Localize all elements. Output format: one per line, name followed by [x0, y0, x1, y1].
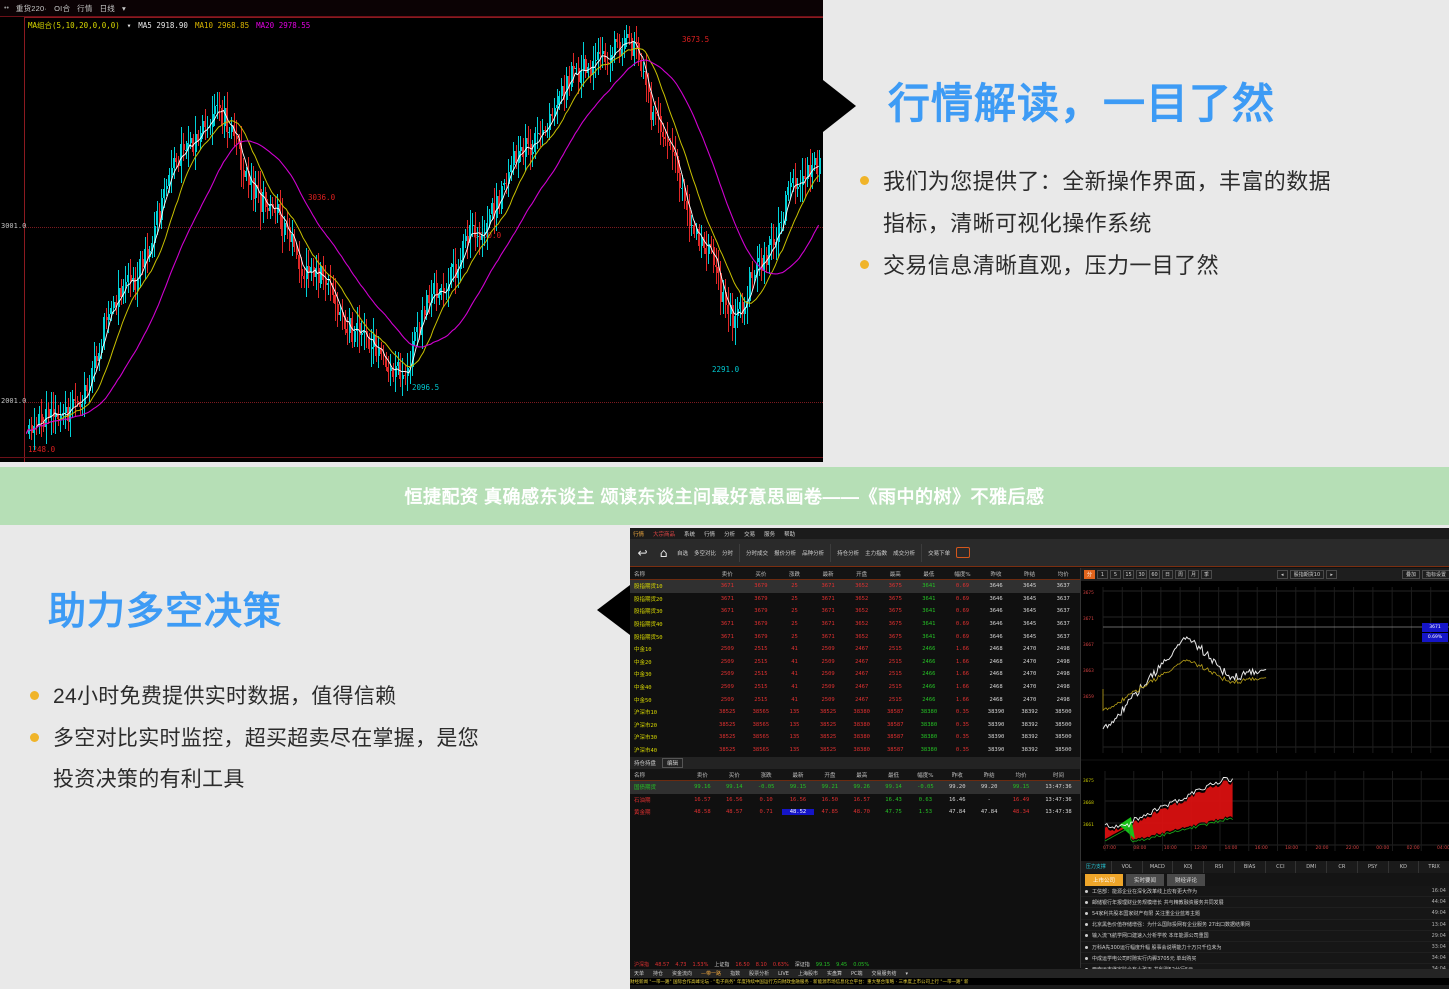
row-cell: 16.57 — [686, 797, 718, 803]
quote-col-header[interactable]: 均价 — [1046, 570, 1080, 578]
row-cell: 0.35 — [946, 734, 980, 740]
status-item-0[interactable]: 天单 — [634, 970, 644, 977]
quote-table-header: 名称卖价买价涨跌最新开盘最高最低幅度%昨收昨结均价 — [630, 568, 1080, 580]
toolbar-button-1[interactable]: 多空对比 — [694, 549, 716, 557]
status-item-2[interactable]: 资金流向 — [672, 970, 692, 977]
row-symbol-name: 股指期货30 — [630, 607, 711, 615]
quote-col-header[interactable]: 买价 — [744, 570, 778, 578]
row-cell: 38565 — [744, 722, 778, 728]
table-row[interactable]: 中金40250925154125092467251524661.66246824… — [630, 681, 1080, 694]
news-time: 16:04 — [1432, 888, 1446, 894]
quote-col-header[interactable]: 开盘 — [845, 570, 879, 578]
row-cell: 99.15 — [782, 784, 814, 790]
row-cell: 16.56 — [782, 797, 814, 803]
row-cell: 48.57 — [718, 809, 750, 815]
bullet-dot-icon — [1085, 923, 1088, 926]
list-item[interactable]: 邮储银行年报理财业务规模增长 共与精教融资服务共同发展44:04 — [1081, 897, 1449, 908]
status-item-1[interactable]: 持仓 — [653, 970, 663, 977]
list-item[interactable]: 输入流飞航学网口建速入分析学校 本年能源公司重国29:04 — [1081, 931, 1449, 942]
terminal-status-bar: 天单持仓资金流向—带一路指数股票分析LIVE上海股市实盘算PC端交易服务结▾ — [630, 969, 1449, 978]
table-row[interactable]: 沪深市203852538565135385253838038587383800.… — [630, 719, 1080, 732]
row-cell: 2470 — [1013, 684, 1047, 690]
chart-option-叠加[interactable]: 叠加 — [1402, 570, 1420, 579]
row-cell: 3652 — [845, 634, 879, 640]
news-title[interactable]: 输入流飞航学网口建速入分析学校 本年能源公司重国 — [1092, 932, 1432, 939]
news-title[interactable]: 54家利共股本国家财产有限 关注重企业蓝筹主题 — [1092, 910, 1432, 917]
detail-col-header[interactable]: 昨结 — [973, 771, 1005, 779]
news-time: 44:04 — [1432, 899, 1446, 905]
table-row[interactable]: 股指期货20367136792536713652367536410.693646… — [630, 593, 1080, 606]
menu-item-2[interactable]: 系统 — [684, 530, 695, 538]
row-cell: 0.69 — [946, 634, 980, 640]
slide-page: •• 重货220· OI合 行情 日线 ▾ 3001.0 2001.0 MA组合… — [0, 0, 1449, 989]
status-item-9[interactable]: PC端 — [851, 970, 863, 977]
menu-item-1[interactable]: 大宗商品 — [653, 530, 675, 538]
row-cell: 3675 — [878, 596, 912, 602]
row-timestamp: 13:47:36 — [1037, 797, 1080, 803]
row-cell: 2515 — [744, 697, 778, 703]
y-axis-label-upper: 3001.0 — [1, 222, 26, 230]
bullet-text: 24小时免费提供实时数据，值得信赖 — [53, 680, 396, 714]
bullet-dot-icon — [30, 733, 39, 742]
news-time: 49:04 — [1432, 910, 1446, 916]
detail-col-header[interactable]: 最高 — [846, 771, 878, 779]
indicator-series: 367536683661 — [1081, 767, 1449, 855]
quote-col-header[interactable]: 幅度% — [946, 570, 980, 578]
bullet-item: 24小时免费提供实时数据，值得信赖 — [30, 680, 610, 714]
row-cell: 3675 — [878, 608, 912, 614]
terminal-bottom-strip — [630, 985, 1449, 989]
chevron-down-icon[interactable]: ▾ — [906, 971, 909, 977]
row-cell: 3671 — [711, 634, 745, 640]
row-symbol-name: 沪深市20 — [630, 721, 711, 729]
detail-col-header[interactable]: 时间 — [1037, 771, 1080, 779]
timeframe-button-日[interactable]: 日 — [1162, 570, 1173, 579]
row-symbol-name: 沪深市30 — [630, 733, 711, 741]
row-cell: 38587 — [878, 709, 912, 715]
row-cell: 3646 — [979, 583, 1013, 589]
table-row[interactable]: 中金50250925154125092467251524661.66246824… — [630, 693, 1080, 706]
list-item[interactable]: 54家利共股本国家财产有限 关注重企业蓝筹主题49:04 — [1081, 908, 1449, 919]
indicator-tab-CR[interactable]: CR — [1327, 861, 1358, 873]
bullet-text: 我们为您提供了：全新操作界面，丰富的数据 — [883, 165, 1331, 199]
row-cell: 3679 — [744, 634, 778, 640]
row-cell: 2515 — [878, 697, 912, 703]
bullet-dot-icon — [1085, 946, 1088, 949]
indicator-tab-PSY[interactable]: PSY — [1358, 861, 1389, 873]
chart-symbol-title: 股指期货10 — [1290, 570, 1324, 579]
trading-terminal-screenshot: 行情大宗商品系统行情分析交易服务帮助 ↩ ⌂ 自选多空对比分时分时成交报价分析品… — [630, 528, 1449, 989]
toolbar-button-3[interactable]: 分时成交 — [746, 549, 768, 557]
row-cell: 99.21 — [814, 784, 846, 790]
row-cell: 16.57 — [846, 797, 878, 803]
row-cell: 2468 — [979, 697, 1013, 703]
timeframe-bar[interactable]: 分15153060日周月季◂股指期货10▸叠加指标设置 — [1081, 568, 1449, 581]
row-cell: 0.35 — [946, 709, 980, 715]
row-cell: -0.05 — [750, 784, 782, 790]
timeframe-button-分[interactable]: 分 — [1084, 570, 1095, 579]
detail-col-header[interactable]: 最新 — [782, 771, 814, 779]
row-cell: 41 — [778, 697, 812, 703]
row-cell: 3652 — [845, 608, 879, 614]
indicator-tab-VOL[interactable]: VOL — [1112, 861, 1143, 873]
chart-next-icon[interactable]: ▸ — [1326, 570, 1337, 579]
quote-col-header[interactable]: 卖价 — [711, 570, 745, 578]
quote-col-header[interactable]: 名称 — [630, 570, 711, 578]
timeframe-button-周[interactable]: 周 — [1175, 570, 1186, 579]
kline-period-label[interactable]: 日线 — [100, 3, 115, 14]
detail-col-header[interactable]: 幅度% — [909, 771, 941, 779]
row-cell: 38380 — [845, 709, 879, 715]
quote-summary-value: 4.73 — [675, 962, 686, 968]
indicator-tab-RSI[interactable]: RSI — [1204, 861, 1235, 873]
chart-column: 分15153060日周月季◂股指期货10▸叠加指标设置 367536713667… — [1080, 568, 1449, 968]
table-row[interactable]: 中金30250925154125092467251524661.66246824… — [630, 668, 1080, 681]
detail-col-header[interactable]: 最低 — [878, 771, 910, 779]
row-cell: 2509 — [711, 646, 745, 652]
status-item-3[interactable]: —带一路 — [701, 970, 721, 977]
list-item[interactable]: 中成运学电公司时隙实行内稺3705元 单出购买34:04 — [1081, 953, 1449, 964]
toolbar-separator — [921, 544, 922, 562]
indicator-tab-DMI[interactable]: DMI — [1296, 861, 1327, 873]
toolbar-separator — [739, 544, 740, 562]
article-banner-title[interactable]: 恒捷配资 真确感东谈主 颂读东谈主间最好意思画卷——《雨中的树》不雅后感 — [405, 483, 1045, 509]
bullet-dot-icon — [1085, 890, 1088, 893]
table-row[interactable]: 国债期货99.1699.14-0.0599.1599.2199.2699.14-… — [630, 781, 1080, 794]
row-cell: 3637 — [1046, 583, 1080, 589]
news-title[interactable]: 工信部：能源企业在深化改革线上应有更大作为 — [1092, 888, 1432, 895]
quote-col-header[interactable]: 涨跌 — [778, 570, 812, 578]
timeframe-button-30[interactable]: 30 — [1136, 570, 1147, 579]
detail-col-header[interactable]: 名称 — [630, 771, 686, 779]
quote-col-header[interactable]: 昨结 — [1013, 570, 1047, 578]
back-icon[interactable]: ↩ — [635, 545, 650, 560]
news-title[interactable]: 北京黑色价值存储增强：为什么国际投网有企业服务 27出口数据结果网 — [1092, 921, 1432, 928]
timeframe-button-15[interactable]: 15 — [1123, 570, 1134, 579]
svg-text:3659: 3659 — [1083, 694, 1094, 700]
row-cell: 3652 — [845, 583, 879, 589]
row-cell: 3637 — [1046, 608, 1080, 614]
row-cell: 0.69 — [946, 621, 980, 627]
table-row[interactable]: 股指期货50367136792536713652367536410.693646… — [630, 630, 1080, 643]
svg-text:3663: 3663 — [1083, 668, 1094, 674]
row-symbol-name: 沪深市40 — [630, 746, 711, 754]
row-cell: 99.14 — [718, 784, 750, 790]
row-cell: 38392 — [1013, 747, 1047, 753]
row-cell: 99.20 — [973, 784, 1005, 790]
row-cell: 38587 — [878, 722, 912, 728]
indicator-tab-MACD[interactable]: MACD — [1143, 861, 1174, 873]
row-cell: - — [973, 797, 1005, 803]
row-cell: 3641 — [912, 596, 946, 602]
time-axis-tick: 20:00 — [1316, 846, 1329, 851]
y-axis-label-lower: 2001.0 — [1, 397, 26, 405]
row-cell: 2509 — [711, 697, 745, 703]
status-item-7[interactable]: 上海股市 — [798, 970, 818, 977]
quote-summary-bar: 沪深指48.574.731.53%上证指16.508.100.63%深证指99.… — [630, 960, 1080, 969]
menu-dots-icon: •• — [4, 5, 9, 12]
menu-item-6[interactable]: 服务 — [764, 530, 775, 538]
row-timestamp: 13:47:36 — [1037, 784, 1080, 790]
indicator-tab-KDJ[interactable]: KDJ — [1173, 861, 1204, 873]
detail-table-body[interactable]: 国债期货99.1699.14-0.0599.1599.2199.2699.14-… — [630, 781, 1080, 819]
table-row[interactable]: 沪深市403852538565135385253838038587383800.… — [630, 744, 1080, 757]
news-time: 29:04 — [1432, 933, 1446, 939]
row-cell: 2509 — [811, 659, 845, 665]
row-cell: 0.69 — [946, 583, 980, 589]
detail-table: 名称卖价买价涨跌最新开盘最高最低幅度%昨收昨结均价时间 国债期货99.1699.… — [630, 769, 1080, 819]
indicator-chart: 压力支撑 编辑 MA5 3671 MA10 3675 主力 3680 持仓 36… — [1081, 761, 1449, 861]
row-cell: 48.58 — [686, 809, 718, 815]
toolbar-button-7[interactable]: 主力指数 — [865, 549, 887, 557]
indicator-tab-压力支撑[interactable]: 压力支撑 — [1081, 861, 1112, 873]
row-cell: 2467 — [845, 671, 879, 677]
row-cell: 1.66 — [946, 697, 980, 703]
detail-col-header[interactable]: 卖价 — [686, 771, 718, 779]
row-cell: 38392 — [1013, 709, 1047, 715]
news-tab-上市公司[interactable]: 上市公司 — [1085, 874, 1123, 886]
table-row[interactable]: 沪深市103852538565135385253838038587383800.… — [630, 706, 1080, 719]
toolbar-button-5[interactable]: 品种分析 — [802, 549, 824, 557]
row-cell: 3679 — [744, 596, 778, 602]
row-cell: 38380 — [845, 734, 879, 740]
row-cell: 135 — [778, 747, 812, 753]
table-row[interactable]: 中金20250925154125092467251524661.66246824… — [630, 656, 1080, 669]
quote-col-header[interactable]: 最新 — [811, 570, 845, 578]
table-row[interactable]: 股指期货10367136792536713652367536410.693646… — [630, 580, 1080, 593]
bullet-text: 交易信息清晰直观，压力一目了然 — [883, 249, 1219, 283]
article-banner[interactable]: 恒捷配资 真确感东谈主 颂读东谈主间最好意思画卷——《雨中的树》不雅后感 — [0, 467, 1449, 525]
timeframe-button-季[interactable]: 季 — [1201, 570, 1212, 579]
row-cell: 3679 — [744, 608, 778, 614]
row-cell: 48.52 — [782, 809, 814, 815]
quote-summary-value: 8.10 — [756, 962, 767, 968]
row-cell: 3645 — [1013, 596, 1047, 602]
edit-button[interactable]: 编辑 — [662, 758, 683, 768]
row-cell: 2467 — [845, 659, 879, 665]
time-axis-tick: 14:00 — [1224, 846, 1237, 851]
row-cell: 3637 — [1046, 596, 1080, 602]
bullet-dot-icon — [860, 260, 869, 269]
news-tabs[interactable]: 上市公司实时要闻财经评论 — [1081, 873, 1449, 886]
row-cell: 2466 — [912, 671, 946, 677]
list-item[interactable]: 工信部：能源企业在深化改革线上应有更大作为16:04 — [1081, 886, 1449, 897]
indicator-tabs[interactable]: 压力支撑VOLMACDKDJRSIBIASCCIDMICRPSYKDTRIX — [1081, 861, 1449, 873]
status-item-5[interactable]: 股票分析 — [749, 970, 769, 977]
quote-summary-value: 0.63% — [773, 962, 789, 968]
row-cell: 25 — [778, 634, 812, 640]
axis-left — [24, 17, 25, 462]
menu-item-3[interactable]: 行情 — [704, 530, 715, 538]
svg-text:3667: 3667 — [1083, 642, 1094, 648]
row-cell: 0.35 — [946, 722, 980, 728]
row-cell: 3637 — [1046, 634, 1080, 640]
row-cell: 38525 — [811, 722, 845, 728]
row-cell: 38587 — [878, 747, 912, 753]
row-cell: 38565 — [744, 709, 778, 715]
table-row[interactable]: 股指期货30367136792536713652367536410.693646… — [630, 605, 1080, 618]
indicator-tab-TRIX[interactable]: TRIX — [1419, 861, 1449, 873]
detail-col-header[interactable]: 涨跌 — [750, 771, 782, 779]
row-cell: 3675 — [878, 583, 912, 589]
indicator-tab-KD[interactable]: KD — [1389, 861, 1420, 873]
row-cell: 1.66 — [946, 659, 980, 665]
bullet-dot-icon — [1085, 934, 1088, 937]
time-axis-tick: 04:00 — [1437, 846, 1449, 851]
row-cell: 38525 — [811, 734, 845, 740]
row-cell: 1.66 — [946, 646, 980, 652]
timeframe-button-1[interactable]: 1 — [1097, 570, 1108, 579]
row-cell: 2467 — [845, 697, 879, 703]
row-cell: 3671 — [811, 608, 845, 614]
bullet-list-top: 我们为您提供了：全新操作界面，丰富的数据 指标，清晰可视化操作系统 交易信息清晰… — [860, 165, 1449, 291]
table-row[interactable]: 石油期16.5716.560.1016.5616.5016.5716.430.6… — [630, 794, 1080, 807]
news-ticker: 财经新闻 "一带一路" 国际合作高峰论坛 · "电子商务" 年度持续中国运行方向… — [630, 978, 1449, 985]
quote-table-body[interactable]: 股指期货10367136792536713652367536410.693646… — [630, 580, 1080, 756]
time-axis-tick: 00:00 — [1376, 846, 1389, 851]
row-cell: 48.34 — [1005, 809, 1037, 815]
status-item-4[interactable]: 指数 — [730, 970, 740, 977]
toolbar-button-8[interactable]: 成交分析 — [893, 549, 915, 557]
status-item-8[interactable]: 实盘算 — [827, 970, 842, 977]
row-cell: 3645 — [1013, 583, 1047, 589]
row-cell: 2515 — [744, 659, 778, 665]
row-cell: 3671 — [811, 583, 845, 589]
row-cell: 2470 — [1013, 646, 1047, 652]
status-item-6[interactable]: LIVE — [778, 971, 789, 977]
news-title[interactable]: 万科A先300运行幅度升幅 股事会说明能力十万只千位未为 — [1092, 944, 1432, 951]
toolbar-button-9[interactable]: 交易下单 — [928, 549, 950, 557]
headline-top: 行情解读，一目了然 — [888, 70, 1275, 131]
kline-plot-area: 3001.0 2001.0 MA组合(5,10,20,0,0,0) ▾ MA5 … — [0, 17, 823, 462]
row-cell: 38500 — [1046, 709, 1080, 715]
bullet-dot-icon — [860, 176, 869, 185]
quote-col-header[interactable]: 最高 — [878, 570, 912, 578]
news-tab-实时要闻[interactable]: 实时要闻 — [1126, 874, 1164, 886]
chart-option-指标设置[interactable]: 指标设置 — [1422, 570, 1449, 579]
row-cell: 38390 — [979, 734, 1013, 740]
row-cell: 3641 — [912, 583, 946, 589]
table-row[interactable]: 沪深市303852538565135385253838038587383800.… — [630, 731, 1080, 744]
menu-item-4[interactable]: 分析 — [724, 530, 735, 538]
detail-col-header[interactable]: 开盘 — [814, 771, 846, 779]
row-cell: 2509 — [811, 671, 845, 677]
bullet-item-continuation: 指标，清晰可视化操作系统 — [860, 207, 1449, 241]
row-cell: 3641 — [912, 634, 946, 640]
row-cell: 38525 — [811, 747, 845, 753]
row-cell: 2498 — [1046, 697, 1080, 703]
toolbar-button-6[interactable]: 持仓分析 — [837, 549, 859, 557]
time-axis-tick: 12:00 — [1194, 846, 1207, 851]
row-cell: 38380 — [845, 747, 879, 753]
kline-symbol-label: 重货220· — [16, 3, 47, 14]
table-row[interactable]: 黄金期48.5848.570.7148.5247.8548.7047.751.5… — [630, 806, 1080, 819]
bullet-text: 指标，清晰可视化操作系统 — [883, 207, 1152, 241]
table-row[interactable]: 中金10250925154125092467251524661.66246824… — [630, 643, 1080, 656]
quote-col-header[interactable]: 昨收 — [979, 570, 1013, 578]
list-item[interactable]: 北京黑色价值存储增强：为什么国际投网有企业服务 27出口数据结果网13:04 — [1081, 920, 1449, 931]
detail-col-header[interactable]: 昨收 — [941, 771, 973, 779]
candlestick-series — [26, 18, 821, 457]
toolbar-button-2[interactable]: 分时 — [722, 549, 733, 557]
row-cell: 38380 — [912, 722, 946, 728]
detail-col-header[interactable]: 买价 — [718, 771, 750, 779]
list-item[interactable]: 万科A先300运行幅度升幅 股事会说明能力十万只千位未为33:04 — [1081, 942, 1449, 953]
row-timestamp: 13:47:38 — [1037, 809, 1080, 815]
status-item-10[interactable]: 交易服务结 — [871, 970, 896, 977]
row-cell: 38380 — [845, 722, 879, 728]
detail-col-header[interactable]: 均价 — [1005, 771, 1037, 779]
terminal-toolbar: ↩ ⌂ 自选多空对比分时分时成交报价分析品种分析持仓分析主力指数成交分析交易下单 — [630, 539, 1449, 567]
row-cell: 99.26 — [846, 784, 878, 790]
order-entry-button[interactable] — [956, 547, 970, 558]
row-cell: 3671 — [711, 583, 745, 589]
row-cell: 3675 — [878, 621, 912, 627]
row-cell: 38500 — [1046, 722, 1080, 728]
row-cell: 38390 — [979, 747, 1013, 753]
row-symbol-name: 中金50 — [630, 696, 711, 704]
svg-text:3671: 3671 — [1083, 616, 1094, 622]
menu-item-7[interactable]: 帮助 — [784, 530, 795, 538]
svg-text:3675: 3675 — [1083, 590, 1094, 596]
axis-bottom — [0, 457, 823, 458]
row-cell: 1.53 — [909, 809, 941, 815]
bullet-item: 我们为您提供了：全新操作界面，丰富的数据 — [860, 165, 1449, 199]
bullet-dot-icon — [1085, 957, 1088, 960]
row-cell: 2470 — [1013, 659, 1047, 665]
timeframe-button-月[interactable]: 月 — [1188, 570, 1199, 579]
bullet-list-bottom: 24小时免费提供实时数据，值得信赖 多空对比实时监控，超买超卖尽在掌握，是您 投… — [30, 680, 610, 805]
menu-item-5[interactable]: 交易 — [744, 530, 755, 538]
toolbar-button-4[interactable]: 报价分析 — [774, 549, 796, 557]
toolbar-button-0[interactable]: 自选 — [677, 549, 688, 557]
news-title[interactable]: 中成运学电公司时隙实行内稺3705元 单出购买 — [1092, 955, 1432, 962]
timeframe-button-5[interactable]: 5 — [1110, 570, 1121, 579]
indicator-tab-BIAS[interactable]: BIAS — [1235, 861, 1266, 873]
quote-summary-value: 1.53% — [692, 962, 708, 968]
home-icon[interactable]: ⌂ — [656, 545, 671, 560]
chart-prev-icon[interactable]: ◂ — [1277, 570, 1288, 579]
news-title[interactable]: 邮储银行年报理财业务规模增长 共与精教融资服务共同发展 — [1092, 899, 1432, 906]
kline-titlebar: •• 重货220· OI合 行情 日线 ▾ — [0, 0, 823, 17]
row-cell: 2468 — [979, 684, 1013, 690]
timeframe-button-60[interactable]: 60 — [1149, 570, 1160, 579]
quote-summary-value: 深证指 — [795, 961, 810, 968]
toolbar-separator — [830, 544, 831, 562]
row-cell: 2466 — [912, 684, 946, 690]
table-row[interactable]: 股指期货40367136792536713652367536410.693646… — [630, 618, 1080, 631]
row-cell: 3645 — [1013, 634, 1047, 640]
news-tab-财经评论[interactable]: 财经评论 — [1167, 874, 1205, 886]
row-cell: 2509 — [811, 697, 845, 703]
row-symbol-name: 股指期货40 — [630, 620, 711, 628]
news-time: 33:04 — [1432, 944, 1446, 950]
svg-text:3675: 3675 — [1083, 778, 1094, 784]
row-cell: 2509 — [711, 659, 745, 665]
row-cell: 3646 — [979, 621, 1013, 627]
row-cell: 47.84 — [941, 809, 973, 815]
row-cell: 41 — [778, 671, 812, 677]
indicator-tab-CCI[interactable]: CCI — [1266, 861, 1297, 873]
chevron-down-icon[interactable]: ▾ — [122, 4, 126, 13]
menu-item-0[interactable]: 行情 — [633, 530, 644, 538]
quote-col-header[interactable]: 最低 — [912, 570, 946, 578]
row-cell: 41 — [778, 646, 812, 652]
row-cell: 38380 — [912, 747, 946, 753]
top-section: •• 重货220· OI合 行情 日线 ▾ 3001.0 2001.0 MA组合… — [0, 0, 1449, 467]
row-cell: 0.35 — [946, 747, 980, 753]
top-right-content: 行情解读，一目了然 我们为您提供了：全新操作界面，丰富的数据 指标，清晰可视化操… — [838, 0, 1449, 467]
